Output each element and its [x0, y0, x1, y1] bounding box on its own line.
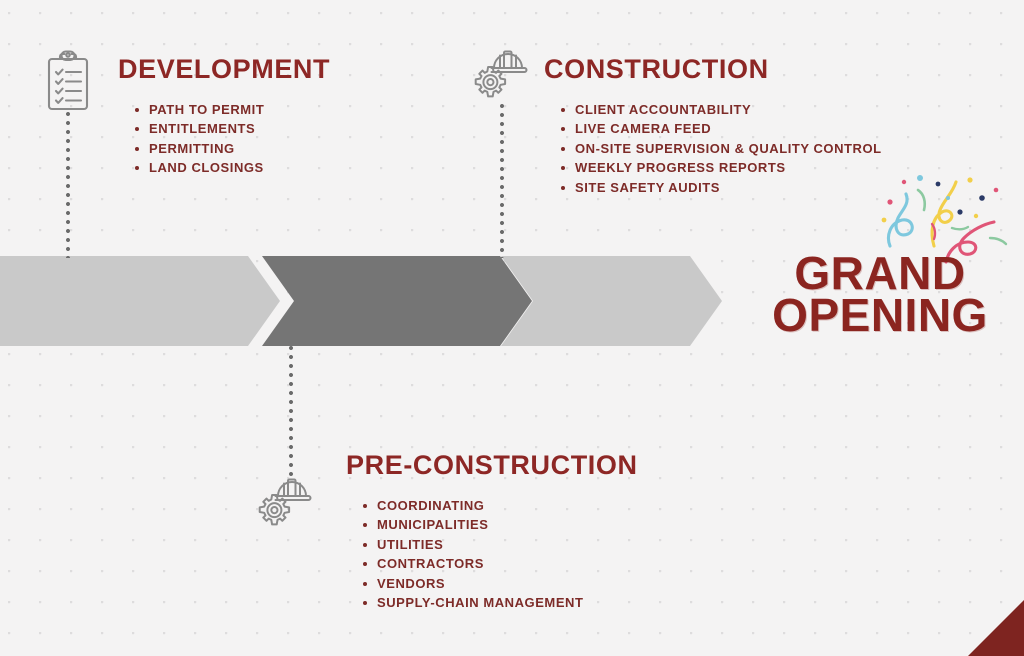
list-item: PERMITTING	[134, 139, 330, 158]
infographic-canvas: DEVELOPMENT PATH TO PERMIT ENTITLEMENTS …	[0, 0, 1024, 656]
list-item: VENDORS	[362, 574, 638, 593]
list-item: LIVE CAMERA FEED	[560, 119, 882, 138]
clipboard-checklist-icon	[45, 50, 91, 112]
connector-preconstruction	[289, 346, 293, 478]
process-arrow-band	[0, 256, 722, 346]
stage-preconstruction: PRE-CONSTRUCTION COORDINATING MUNICIPALI…	[346, 452, 638, 612]
list-item: CLIENT ACCOUNTABILITY	[560, 100, 882, 119]
list-item: PATH TO PERMIT	[134, 100, 330, 119]
list-item: SUPPLY-CHAIN MANAGEMENT	[362, 593, 638, 612]
connector-development	[66, 112, 70, 258]
gear-hardhat-icon-construction	[474, 46, 528, 102]
corner-accent-wedge	[968, 600, 1024, 656]
band-segment-1	[0, 256, 280, 346]
connector-construction	[500, 104, 504, 258]
stage-preconstruction-list: COORDINATING MUNICIPALITIES UTILITIES CO…	[362, 496, 638, 612]
stage-preconstruction-title: PRE-CONSTRUCTION	[346, 452, 638, 479]
list-item: LAND CLOSINGS	[134, 158, 330, 177]
grand-opening-line2: OPENING	[750, 294, 1010, 336]
band-segment-3	[501, 256, 722, 346]
stage-development-title: DEVELOPMENT	[118, 56, 330, 83]
list-item: ENTITLEMENTS	[134, 119, 330, 138]
stage-development-list: PATH TO PERMIT ENTITLEMENTS PERMITTING L…	[134, 100, 330, 178]
list-item: ON-SITE SUPERVISION & QUALITY CONTROL	[560, 139, 882, 158]
list-item: UTILITIES	[362, 535, 638, 554]
grand-opening-line1: GRAND	[750, 252, 1010, 294]
stage-construction-list: CLIENT ACCOUNTABILITY LIVE CAMERA FEED O…	[560, 100, 882, 197]
stage-construction-title: CONSTRUCTION	[544, 56, 882, 83]
list-item: CONTRACTORS	[362, 554, 638, 573]
list-item: SITE SAFETY AUDITS	[560, 178, 882, 197]
gear-hardhat-icon-preconstruction	[258, 474, 312, 530]
grand-opening-title: GRAND OPENING	[750, 252, 1010, 337]
list-item: MUNICIPALITIES	[362, 515, 638, 534]
stage-construction: CONSTRUCTION CLIENT ACCOUNTABILITY LIVE …	[544, 56, 882, 197]
band-segment-2-active	[262, 256, 532, 346]
list-item: COORDINATING	[362, 496, 638, 515]
stage-development: DEVELOPMENT PATH TO PERMIT ENTITLEMENTS …	[118, 56, 330, 178]
list-item: WEEKLY PROGRESS REPORTS	[560, 158, 882, 177]
